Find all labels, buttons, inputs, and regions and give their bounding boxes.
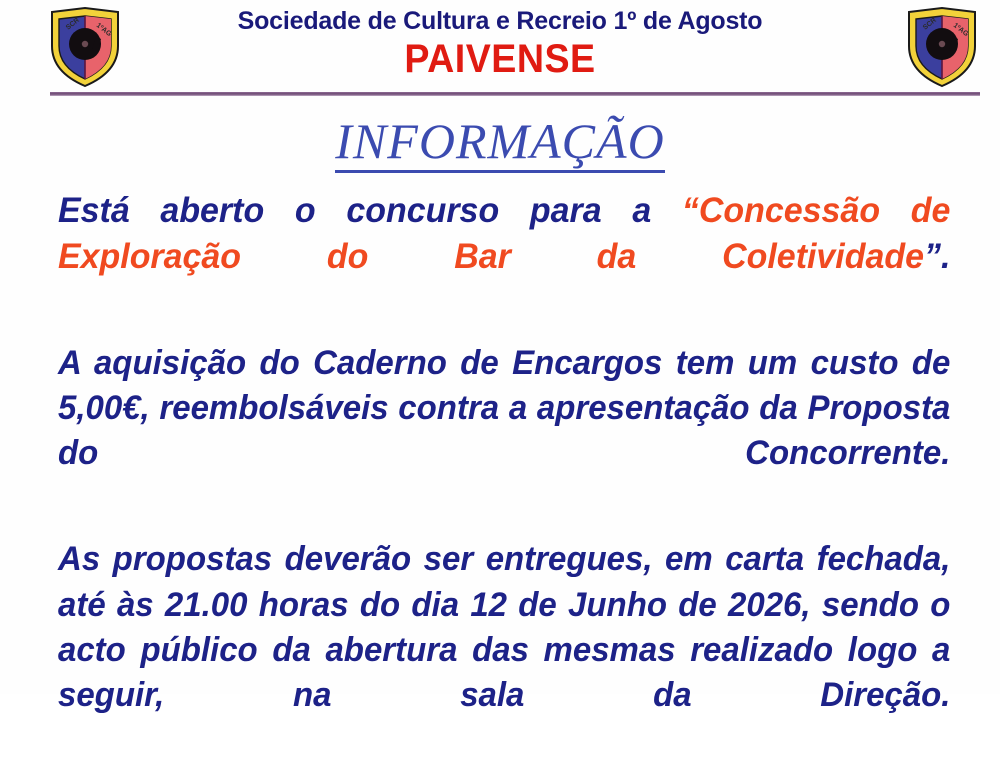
- paragraph-concurso: Está aberto o concurso para a “Concessão…: [58, 188, 950, 325]
- header-title-block: Sociedade de Cultura e Recreio 1º de Ago…: [150, 8, 850, 80]
- p1-lead-text: Está aberto o concurso para a: [58, 191, 682, 230]
- body-copy: Está aberto o concurso para a “Concessão…: [58, 188, 978, 763]
- organization-name: Sociedade de Cultura e Recreio 1º de Ago…: [150, 8, 850, 36]
- heading-block: INFORMAÇÃO: [0, 113, 1000, 173]
- poster-page: SCR 1ºAG Sociedade de Cultura e Recreio …: [0, 0, 1000, 694]
- shield-crest-icon-left: SCR 1ºAG: [48, 6, 122, 88]
- page-title: INFORMAÇÃO: [335, 113, 664, 173]
- club-name: PAIVENSE: [171, 38, 829, 80]
- poster-header: SCR 1ºAG Sociedade de Cultura e Recreio …: [0, 0, 1000, 92]
- paragraph-caderno-encargos: A aquisição do Caderno de Encargos tem u…: [58, 341, 950, 522]
- paragraph-propostas-prazo: As propostas deverão ser entregues, em c…: [58, 537, 950, 763]
- p1-closing-punct: ”.: [924, 237, 950, 276]
- header-divider-rule: [50, 92, 980, 96]
- shield-crest-icon-right: SCR 1ºAG: [905, 6, 979, 88]
